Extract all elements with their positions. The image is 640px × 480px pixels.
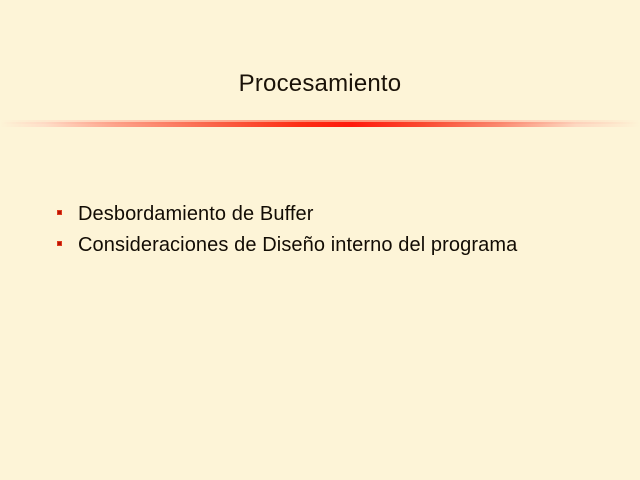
title-divider xyxy=(0,116,640,130)
square-bullet-icon xyxy=(57,210,62,215)
slide-title-zone: Procesamiento xyxy=(0,62,640,106)
divider-accent-line xyxy=(0,122,640,127)
square-bullet-icon xyxy=(57,241,62,246)
page-title: Procesamiento xyxy=(239,70,402,98)
slide-body: Desbordamiento de Buffer Consideraciones… xyxy=(0,198,640,260)
list-item: Desbordamiento de Buffer xyxy=(0,198,640,229)
bullet-list: Desbordamiento de Buffer Consideraciones… xyxy=(0,198,640,260)
list-item-label: Desbordamiento de Buffer xyxy=(78,202,314,226)
list-item: Consideraciones de Diseño interno del pr… xyxy=(0,229,640,260)
presentation-slide: Procesamiento Desbordamiento de Buffer C… xyxy=(0,0,640,480)
list-item-label: Consideraciones de Diseño interno del pr… xyxy=(78,233,517,257)
